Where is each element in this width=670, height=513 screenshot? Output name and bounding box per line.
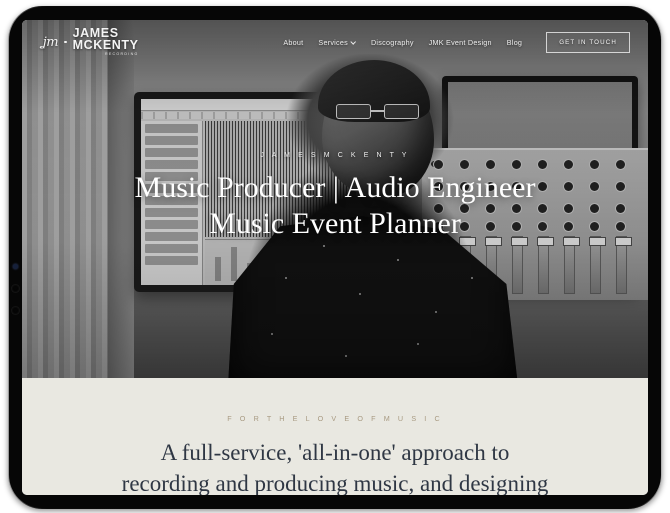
hero-copy: J A M E S M C K E N T Y Music Producer |… xyxy=(22,152,648,242)
nav-item-label: Blog xyxy=(507,38,522,47)
intro-eyebrow: F O R T H E L O V E O F M U S I C xyxy=(22,414,648,423)
nav-item-jmk-event-design[interactable]: JMK Event Design xyxy=(429,38,492,47)
nav-item-about[interactable]: About xyxy=(283,38,303,47)
nav-item-label: JMK Event Design xyxy=(429,38,492,47)
nav-item-label: Services xyxy=(318,38,348,47)
nav-item-discography[interactable]: Discography xyxy=(371,38,414,47)
chevron-down-icon xyxy=(351,40,356,45)
hero-section: ʝm JAMES MCKENTY RECORDING About Service… xyxy=(22,20,648,378)
nav-item-label: About xyxy=(283,38,303,47)
hero-eyebrow: J A M E S M C K E N T Y xyxy=(22,152,648,159)
intro-heading-line-1: A full-service, 'all-in-one' approach to xyxy=(44,438,626,469)
intro-heading-line-2: recording and producing music, and desig… xyxy=(44,469,626,495)
intro-heading: A full-service, 'all-in-one' approach to… xyxy=(22,438,648,495)
top-navigation-bar: ʝm JAMES MCKENTY RECORDING About Service… xyxy=(22,20,648,64)
tablet-screen: ʝm JAMES MCKENTY RECORDING About Service… xyxy=(22,20,648,495)
hero-heading-line-2: Music Event Planner xyxy=(22,206,648,242)
get-in-touch-button[interactable]: GET IN TOUCH xyxy=(546,32,630,53)
logo-dot-separator xyxy=(64,41,67,44)
speaker-hole-icon xyxy=(11,306,20,315)
hero-heading-line-1: Music Producer | Audio Engineer xyxy=(22,170,648,206)
intro-section: F O R T H E L O V E O F M U S I C A full… xyxy=(22,378,648,495)
nav-item-blog[interactable]: Blog xyxy=(507,38,522,47)
speaker-hole-icon xyxy=(11,284,20,293)
logo-line-2: MCKENTY xyxy=(73,40,139,52)
logo-subtitle: RECORDING xyxy=(73,53,139,56)
tablet-device: ʝm JAMES MCKENTY RECORDING About Service… xyxy=(8,6,662,509)
site-logo[interactable]: ʝm JAMES MCKENTY RECORDING xyxy=(42,28,139,56)
logo-monogram: ʝm xyxy=(42,35,58,50)
nav-item-services[interactable]: Services xyxy=(318,38,356,47)
nav-links: About Services Discography JMK Event Des… xyxy=(283,32,630,53)
nav-item-label: Discography xyxy=(371,38,414,47)
front-camera-icon xyxy=(13,264,18,269)
